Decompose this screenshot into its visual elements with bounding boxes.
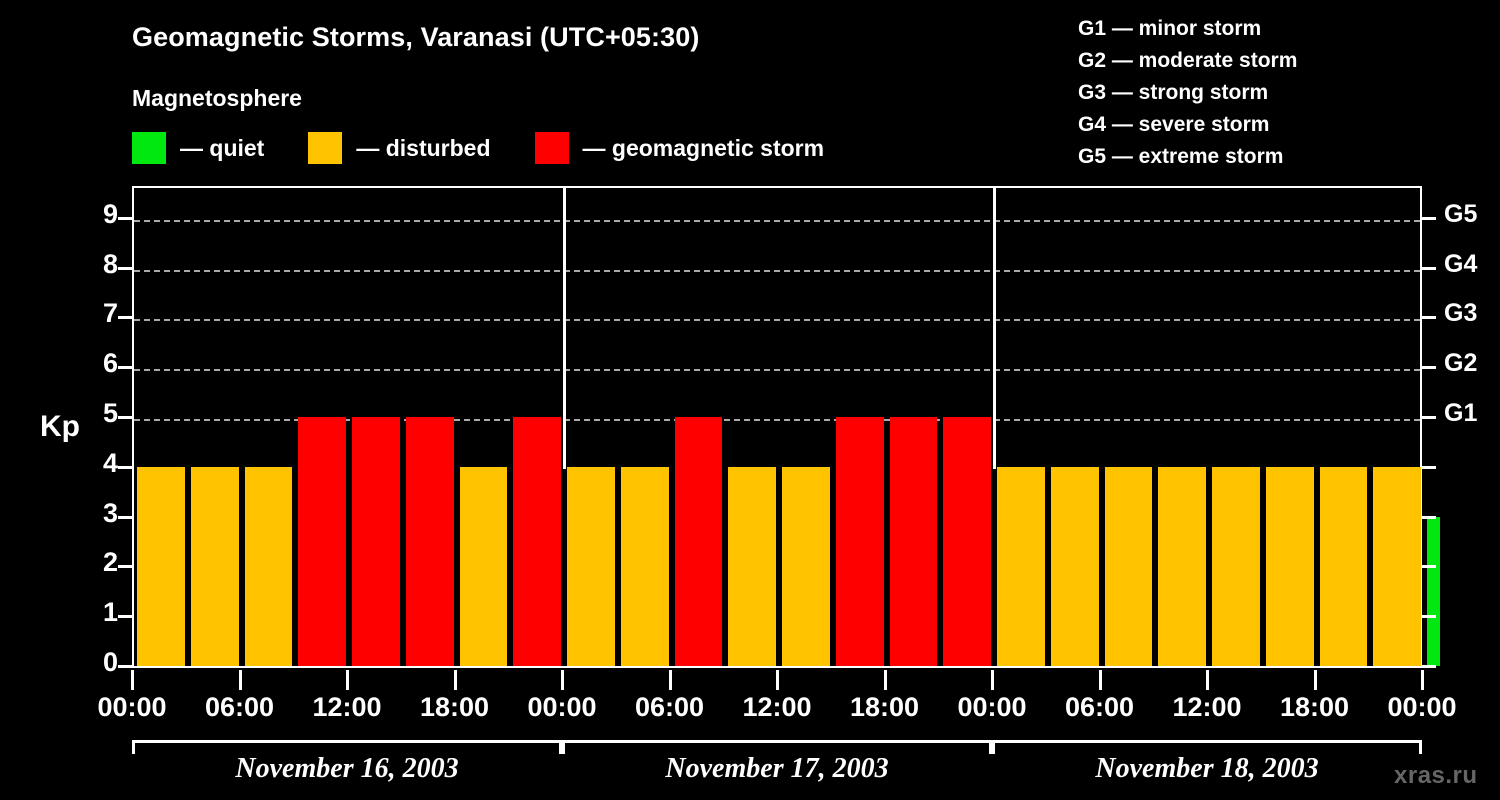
bar-24[interactable] <box>1373 467 1421 666</box>
legend-spacer <box>491 148 535 149</box>
y-tick-3 <box>118 516 132 519</box>
y-tick-6 <box>118 366 132 369</box>
x-tick-8 <box>991 670 994 690</box>
g-scale-key-line-5: G5 — extreme storm <box>1078 141 1297 173</box>
y-tick-1 <box>118 615 132 618</box>
bar-1[interactable] <box>137 467 185 666</box>
y-tick-label-4: 4 <box>78 448 118 479</box>
bar-13[interactable] <box>782 467 830 666</box>
bar-16[interactable] <box>943 417 991 666</box>
bar-18[interactable] <box>1051 467 1099 666</box>
bar-15[interactable] <box>890 417 938 666</box>
day-label-2: November 17, 2003 <box>562 753 992 785</box>
bar-9[interactable] <box>567 467 615 666</box>
bar-19[interactable] <box>1105 467 1153 666</box>
plot-area <box>132 186 1422 668</box>
bar-5[interactable] <box>352 417 400 666</box>
day-bracket-1 <box>132 740 562 754</box>
x-tick-4 <box>561 670 564 690</box>
day-bracket-3 <box>992 740 1422 754</box>
g-scale-key-line-3: G3 — strong storm <box>1078 77 1297 109</box>
legend-swatch-quiet <box>132 132 166 164</box>
g-axis-tick-kp-5 <box>1422 416 1436 419</box>
y-tick-label-5: 5 <box>78 398 118 429</box>
y-tick-0 <box>118 665 132 668</box>
x-tick-0 <box>131 670 134 690</box>
legend-spacer <box>264 148 308 149</box>
g-scale-key-line-2: G2 — moderate storm <box>1078 45 1297 77</box>
x-tick-3 <box>454 670 457 690</box>
x-tick-1 <box>239 670 242 690</box>
g-axis-tick-kp-8 <box>1422 267 1436 270</box>
g-axis-tick-kp-7 <box>1422 316 1436 319</box>
y-tick-label-6: 6 <box>78 348 118 379</box>
g-axis-label-G1: G1 <box>1444 399 1477 428</box>
y-tick-4 <box>118 466 132 469</box>
y-tick-5 <box>118 416 132 419</box>
x-tick-2 <box>346 670 349 690</box>
g-axis-tick-kp-1 <box>1422 615 1436 618</box>
g-axis-label-G4: G4 <box>1444 250 1477 279</box>
watermark: xras.ru <box>1394 762 1478 790</box>
y-tick-8 <box>118 267 132 270</box>
y-tick-7 <box>118 316 132 319</box>
bar-7[interactable] <box>460 467 508 666</box>
legend-label-geomagnetic-storm: — geomagnetic storm <box>583 135 825 162</box>
y-tick-2 <box>118 565 132 568</box>
g-scale-key-line-1: G1 — minor storm <box>1078 13 1297 45</box>
y-tick-label-9: 9 <box>78 199 118 230</box>
g-axis-tick-kp-3 <box>1422 516 1436 519</box>
bar-14[interactable] <box>836 417 884 666</box>
y-tick-label-8: 8 <box>78 249 118 280</box>
y-tick-label-2: 2 <box>78 547 118 578</box>
y-axis-title: Kp <box>40 410 80 444</box>
x-tick-12 <box>1421 670 1424 690</box>
y-tick-label-1: 1 <box>78 597 118 628</box>
day-bracket-2 <box>562 740 992 754</box>
bar-3[interactable] <box>245 467 293 666</box>
bar-11[interactable] <box>675 417 723 666</box>
x-tick-7 <box>884 670 887 690</box>
x-tick-10 <box>1206 670 1209 690</box>
bar-22[interactable] <box>1266 467 1314 666</box>
g-axis-tick-kp-6 <box>1422 366 1436 369</box>
x-tick-11 <box>1314 670 1317 690</box>
bar-12[interactable] <box>728 467 776 666</box>
chart-canvas: Geomagnetic Storms, Varanasi (UTC+05:30)… <box>0 0 1500 800</box>
bar-21[interactable] <box>1212 467 1260 666</box>
x-tick-5 <box>669 670 672 690</box>
bar-series <box>134 188 1420 666</box>
g-scale-key: G1 — minor stormG2 — moderate stormG3 — … <box>1078 13 1297 173</box>
bar-20[interactable] <box>1158 467 1206 666</box>
section-label-magnetosphere: Magnetosphere <box>132 85 302 112</box>
legend-item-quiet[interactable]: — quiet <box>132 132 264 164</box>
legend-swatch-disturbed <box>308 132 342 164</box>
legend: — quiet— disturbed— geomagnetic storm <box>132 132 824 164</box>
legend-label-disturbed: — disturbed <box>356 135 490 162</box>
g-axis-label-G5: G5 <box>1444 200 1477 229</box>
x-tick-6 <box>776 670 779 690</box>
x-tick-9 <box>1099 670 1102 690</box>
page-title: Geomagnetic Storms, Varanasi (UTC+05:30) <box>132 22 699 53</box>
g-axis-label-G2: G2 <box>1444 349 1477 378</box>
g-axis-label-G3: G3 <box>1444 299 1477 328</box>
g-scale-key-line-4: G4 — severe storm <box>1078 109 1297 141</box>
y-tick-label-0: 0 <box>78 647 118 678</box>
legend-item-geomagnetic-storm[interactable]: — geomagnetic storm <box>535 132 825 164</box>
y-tick-label-7: 7 <box>78 298 118 329</box>
legend-label-quiet: — quiet <box>180 135 264 162</box>
g-axis-tick-kp-9 <box>1422 217 1436 220</box>
bar-10[interactable] <box>621 467 669 666</box>
g-axis-tick-kp-2 <box>1422 565 1436 568</box>
bar-6[interactable] <box>406 417 454 666</box>
legend-item-disturbed[interactable]: — disturbed <box>308 132 490 164</box>
bar-17[interactable] <box>997 467 1045 666</box>
legend-swatch-geomagnetic-storm <box>535 132 569 164</box>
day-label-1: November 16, 2003 <box>132 753 562 785</box>
bar-8[interactable] <box>513 417 561 666</box>
y-tick-label-3: 3 <box>78 498 118 529</box>
bar-23[interactable] <box>1320 467 1368 666</box>
g-axis-tick-kp-0 <box>1422 665 1436 668</box>
bar-4[interactable] <box>298 417 346 666</box>
bar-25[interactable] <box>1427 517 1440 666</box>
y-tick-9 <box>118 217 132 220</box>
day-label-3: November 18, 2003 <box>992 753 1422 785</box>
x-tick-label-12: 00:00 <box>1357 692 1487 723</box>
bar-2[interactable] <box>191 467 239 666</box>
g-axis-tick-kp-4 <box>1422 466 1436 469</box>
